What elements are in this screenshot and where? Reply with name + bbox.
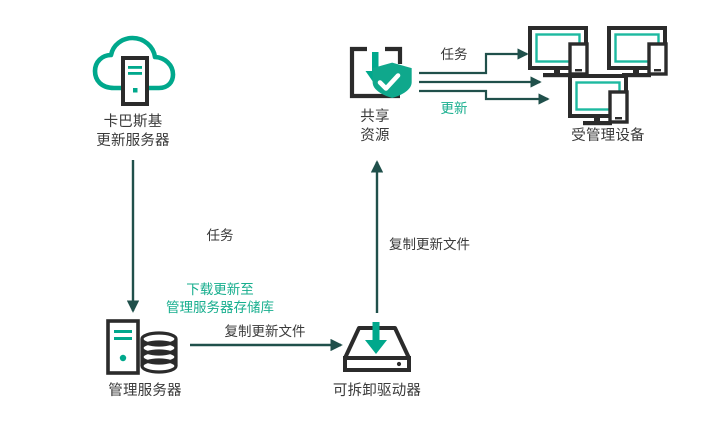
removable-drive-download-icon xyxy=(341,320,413,376)
task-download-updates-subtitle: 下载更新至 管理服务器存储库 xyxy=(144,281,296,317)
task-download-updates: 任务 下载更新至 管理服务器存储库 xyxy=(144,191,296,335)
managed-device-1 xyxy=(530,28,587,77)
task-update-title: 任务 xyxy=(406,46,502,64)
label-kaspersky-update-servers: 卡巴斯基 更新服务器 xyxy=(58,113,208,151)
label-removable-drive: 可拆卸驱动器 xyxy=(302,382,452,401)
managed-devices-icon xyxy=(528,26,688,124)
node-removable-drive xyxy=(341,320,413,376)
cloud-server-icon xyxy=(92,32,178,110)
label-administration-server: 管理服务器 xyxy=(70,382,220,401)
managed-device-3 xyxy=(570,76,627,125)
node-managed-devices xyxy=(528,26,688,124)
connector-label-copy-update-files-horizontal: 复制更新文件 xyxy=(190,320,340,340)
managed-device-2 xyxy=(609,28,666,77)
label-managed-devices: 受管理设备 xyxy=(533,127,683,146)
task-download-updates-title: 任务 xyxy=(144,227,296,245)
connector-label-copy-update-files-vertical: 复制更新文件 xyxy=(389,233,519,253)
task-update-subtitle: 更新 xyxy=(406,100,502,118)
task-update: 任务 更新 xyxy=(406,10,502,136)
node-kaspersky-update-servers xyxy=(92,32,178,110)
